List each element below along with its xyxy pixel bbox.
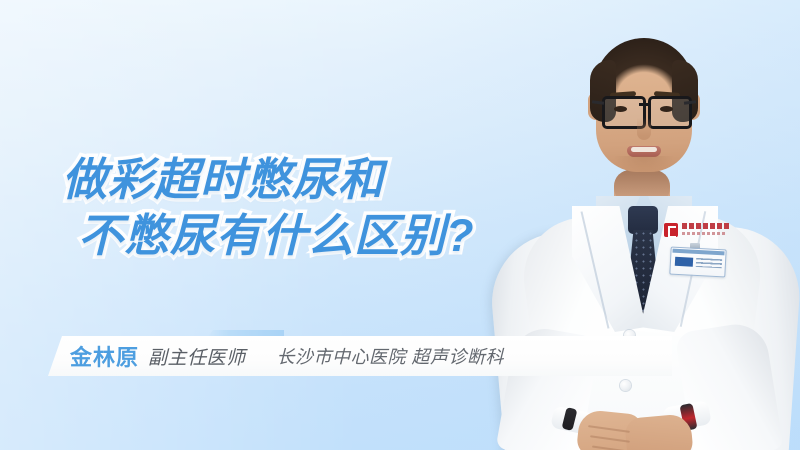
coat-button-lower — [620, 380, 631, 391]
badge-header-strip — [672, 249, 724, 256]
hospital-logo-subtext — [682, 232, 726, 235]
eyeglasses-bridge — [639, 103, 649, 106]
badge-name-block — [675, 257, 693, 267]
badge-text-lines — [696, 258, 722, 268]
doctor-title: 副主任医师 — [148, 343, 246, 370]
doctor-affiliation: 长沙市中心医院 超声诊断科 — [277, 343, 505, 369]
id-badge — [669, 247, 726, 278]
hand-right — [624, 413, 694, 450]
hospital-logo-text — [682, 223, 730, 229]
headline-line-2: 不憋尿有什么区别? — [62, 208, 532, 264]
hospital-logo — [664, 222, 730, 240]
hospital-logo-mark-icon — [664, 223, 678, 237]
credential-bar-content: 金林原 副主任医师 长沙市中心医院 超声诊断科 — [48, 336, 672, 376]
doctor-name: 金林原 — [70, 340, 139, 372]
eye-left — [614, 106, 627, 112]
headline-line-1: 做彩超时憋尿和 — [62, 152, 532, 208]
eye-right — [660, 106, 673, 112]
necktie-knot — [628, 206, 658, 234]
chin-shadow — [614, 156, 674, 172]
headline: 做彩超时憋尿和 不憋尿有什么区别? — [62, 152, 532, 264]
teeth — [631, 147, 657, 152]
nose — [637, 118, 651, 140]
video-thumbnail: 做彩超时憋尿和 不憋尿有什么区别? 金林原 副主任医师 长沙市中心医院 超声诊断… — [0, 0, 800, 450]
